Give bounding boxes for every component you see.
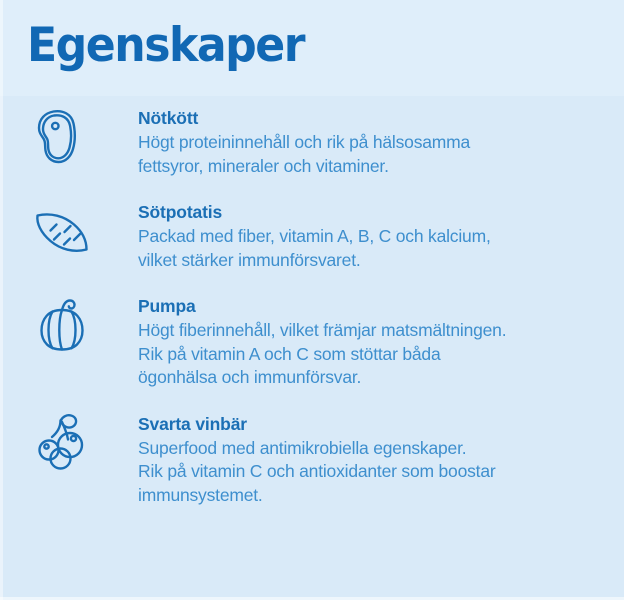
- list-item-heading: Sötpotatis: [138, 201, 624, 223]
- list-item-heading: Nötkött: [138, 107, 624, 129]
- list-item-blackcurrant: Svarta vinbär Superfood med antimikrobie…: [0, 409, 624, 508]
- list-item-body: Högt proteininnehåll och rik på hälsosam…: [138, 131, 624, 178]
- list-item-sweet-potato: Sötpotatis Packad med fiber, vitamin A, …: [0, 197, 624, 272]
- list-item-text: Sötpotatis Packad med fiber, vitamin A, …: [98, 197, 624, 272]
- list-item-text: Nötkött Högt proteininnehåll och rik på …: [98, 103, 624, 178]
- properties-infographic: Egenskaper Nötkött Högt proteininnehåll …: [0, 0, 624, 600]
- list-item-body: Packad med fiber, vitamin A, B, C och ka…: [138, 225, 624, 272]
- list-item-body: Superfood med antimikrobiella egenskaper…: [138, 437, 624, 508]
- canvas-left-edge: [0, 0, 3, 600]
- list-item-heading: Pumpa: [138, 295, 624, 317]
- list-item-beef: Nötkött Högt proteininnehåll och rik på …: [0, 103, 624, 178]
- list-item-pumpkin: Pumpa Högt fiberinnehåll, vilket främjar…: [0, 291, 624, 390]
- list-item-body: Högt fiberinnehåll, vilket främjar matsm…: [138, 319, 624, 390]
- list-item-text: Pumpa Högt fiberinnehåll, vilket främjar…: [98, 291, 624, 390]
- blackcurrant-berries-icon: [26, 409, 98, 481]
- page-title: Egenskaper: [27, 17, 304, 75]
- pumpkin-icon: [26, 291, 98, 363]
- properties-list: Nötkött Högt proteininnehåll och rik på …: [0, 103, 624, 526]
- sweet-potato-icon: [26, 197, 98, 269]
- beef-steak-icon: [26, 103, 98, 175]
- list-item-text: Svarta vinbär Superfood med antimikrobie…: [98, 409, 624, 508]
- list-item-heading: Svarta vinbär: [138, 413, 624, 435]
